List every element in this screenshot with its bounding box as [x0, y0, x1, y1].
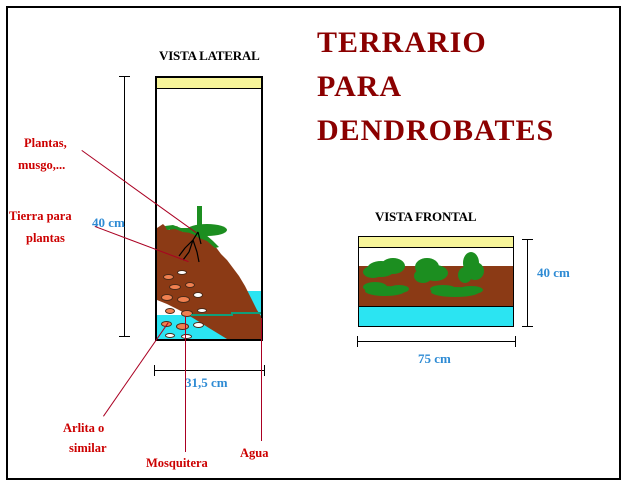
side-view-tank — [155, 76, 263, 341]
side-height-cap-top — [119, 76, 130, 77]
callout-water-label: Agua — [240, 445, 268, 462]
side-width-cap-right — [264, 365, 265, 376]
arlita-pebble — [193, 322, 204, 328]
arlita-pebble — [181, 334, 192, 339]
arlita-pebble — [169, 284, 181, 290]
mosquitera-mesh — [231, 312, 263, 314]
arlita-pebble — [161, 294, 173, 301]
arlita-pebble — [165, 333, 175, 338]
arlita-pebble — [185, 282, 195, 288]
front-height-cap-top — [522, 239, 533, 240]
front-view-tank — [358, 236, 514, 327]
callout-arlita-line-2: similar — [69, 440, 107, 457]
arlita-pebble — [165, 308, 175, 314]
front-width-cap-right — [515, 336, 516, 347]
side-height-cap-bottom — [119, 336, 130, 337]
front-width-label: 75 cm — [418, 351, 451, 367]
title-line-1: TERRARIO — [317, 28, 487, 58]
title-line-2: PARA — [317, 72, 402, 102]
leader-line-water — [261, 318, 262, 441]
callout-plants-line-1: Plantas, — [24, 135, 67, 152]
arlita-pebble — [177, 296, 190, 303]
arlita-pebble — [177, 270, 187, 275]
callout-soil-line-2: plantas — [26, 230, 65, 247]
side-height-label: 40 cm — [92, 215, 125, 231]
front-height-label: 40 cm — [537, 265, 570, 281]
side-width-cap-left — [154, 365, 155, 376]
callout-arlita-line-1: Arlita o — [63, 420, 104, 437]
diagram-canvas: TERRARIO PARA DENDROBATES VISTA LATERAL — [0, 0, 629, 488]
front-width-cap-left — [357, 336, 358, 347]
callout-mesh-label: Mosquitera — [146, 455, 208, 472]
side-width-label: 31,5 cm — [185, 375, 228, 391]
front-height-cap-bottom — [522, 326, 533, 327]
side-height-dimension-line — [124, 76, 125, 336]
page-border — [6, 6, 621, 480]
callout-soil-line-1: Tierra para — [9, 208, 72, 225]
arlita-pebble — [193, 292, 203, 298]
side-width-dimension-line — [154, 370, 264, 371]
front-width-dimension-line — [357, 341, 515, 342]
arlita-pebble — [163, 274, 174, 280]
callout-plants-line-2: musgo,... — [18, 157, 65, 174]
title-line-3: DENDROBATES — [317, 116, 554, 146]
side-view-heading: VISTA LATERAL — [159, 48, 260, 64]
front-view-heading: VISTA FRONTAL — [375, 209, 476, 225]
arlita-pebble — [176, 323, 189, 330]
front-height-dimension-line — [527, 239, 528, 326]
mosquitera-mesh — [191, 314, 233, 316]
arlita-pebble — [197, 308, 207, 313]
leader-line-mesh — [185, 316, 186, 452]
front-view-plants — [359, 237, 512, 325]
